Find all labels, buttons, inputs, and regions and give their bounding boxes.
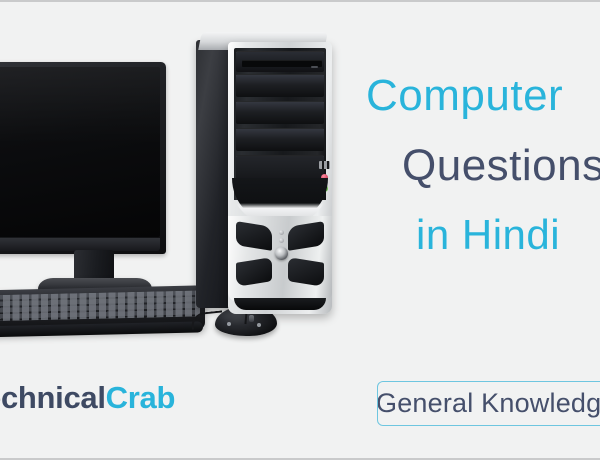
top-divider: [0, 0, 600, 2]
headline-line-2: Questions: [402, 144, 600, 188]
keyboard: [0, 288, 205, 344]
headline: Computer Questions in Hindi: [366, 74, 600, 256]
tower-base-foot: [234, 298, 326, 310]
monitor-bezel: [0, 62, 166, 254]
lcd-monitor: [0, 62, 166, 262]
category-badge-label: General Knowledge: [377, 388, 600, 419]
monitor-screen: [0, 67, 160, 237]
brand-logo-dark-part: echnical: [0, 380, 106, 415]
keyboard-keys: [0, 290, 200, 321]
optical-drive-eject-button: [311, 66, 318, 68]
category-badge: General Knowledge: [377, 381, 600, 426]
tower-indicator-dot: [279, 230, 284, 235]
tower-indicator-dot: [279, 238, 284, 243]
brand-logo-cyan-part: Crab: [106, 380, 175, 415]
mouse-side-button: [227, 322, 231, 326]
tower-blank-bay: [236, 128, 324, 151]
tower-side-panel: [196, 40, 232, 308]
brand-logo: echnicalCrab: [0, 382, 175, 413]
tower-usb-ports: [319, 161, 330, 169]
optical-drive-bay: [236, 51, 324, 72]
mouse-side-button: [257, 323, 261, 327]
tower-power-button: [275, 247, 288, 260]
headline-line-1: Computer: [366, 74, 600, 118]
tower-blank-bay: [236, 74, 324, 97]
header-graphic: Computer Questions in Hindi echnicalCrab…: [0, 0, 600, 460]
headline-line-3: in Hindi: [416, 214, 600, 256]
tower-blank-bay: [236, 101, 324, 124]
desktop-tower: [196, 28, 344, 318]
optical-drive-slot: [242, 60, 322, 67]
